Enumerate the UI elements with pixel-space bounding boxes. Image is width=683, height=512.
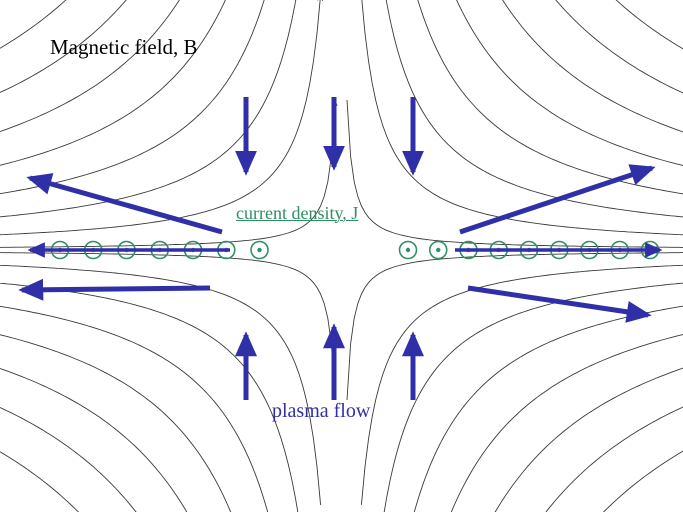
- label-magnetic-field: Magnetic field, B: [50, 35, 198, 60]
- label-plasma-flow: plasma flow: [272, 400, 370, 423]
- reconnection-svg: [0, 0, 683, 512]
- magnetic-field-lines: [0, 0, 683, 512]
- label-current-density: current density, J: [236, 203, 358, 224]
- figure-canvas: Magnetic field, B current density, J pla…: [0, 0, 683, 512]
